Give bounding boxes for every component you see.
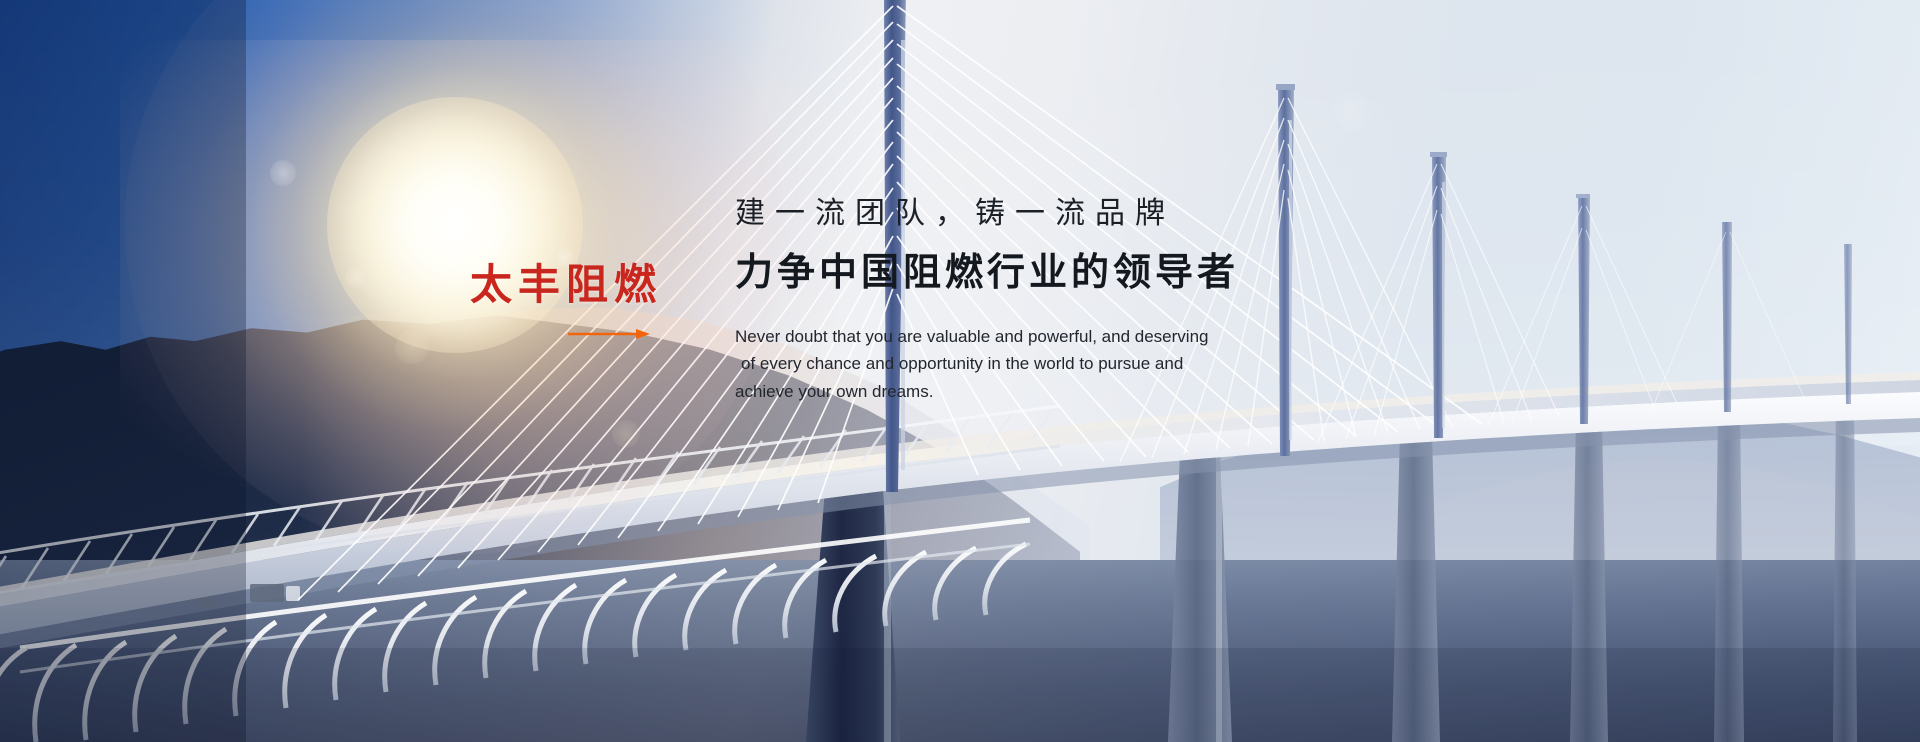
brand-logo-text: 太丰阻燃 (470, 264, 662, 306)
hero-banner: 太丰阻燃 建一流团队，铸一流品牌 力争中国阻燃行业的领导者 Never doub… (0, 0, 1920, 742)
subcopy-line-3: achieve your own dreams. (735, 378, 1435, 406)
arrow-right-icon (568, 328, 650, 340)
subcopy-block: Never doubt that you are valuable and po… (735, 323, 1435, 406)
headline-main: 力争中国阻燃行业的领导者 (735, 251, 1435, 297)
brand-logo[interactable]: 太丰阻燃 (470, 264, 662, 306)
banner-content: 太丰阻燃 建一流团队，铸一流品牌 力争中国阻燃行业的领导者 Never doub… (0, 0, 1920, 742)
subcopy-line-1: Never doubt that you are valuable and po… (735, 323, 1435, 351)
headline-block: 建一流团队，铸一流品牌 力争中国阻燃行业的领导者 Never doubt tha… (735, 196, 1435, 405)
subcopy-line-2: of every chance and opportunity in the w… (735, 350, 1435, 378)
headline-slogan: 建一流团队，铸一流品牌 (735, 196, 1435, 232)
